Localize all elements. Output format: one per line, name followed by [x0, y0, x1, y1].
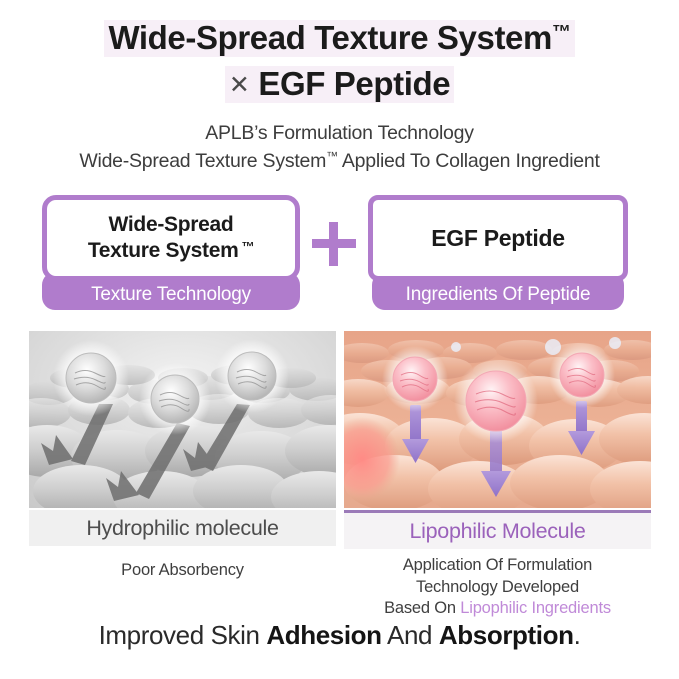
lipophilic-skin-cells-icon — [344, 331, 651, 508]
trademark-symbol-box: ™ — [241, 239, 254, 254]
header: Wide-Spread Texture System™ ✕EGF Peptide… — [0, 0, 679, 175]
lipophilic-illustration — [344, 331, 651, 508]
hydrophilic-illustration — [29, 331, 336, 508]
box-group-texture-system: Wide-Spread Texture System™ Texture Tech… — [42, 195, 300, 310]
hydrophilic-caption: Hydrophilic molecule — [29, 510, 336, 546]
lipophilic-footnote-line-3: Based On — [384, 599, 460, 617]
texture-system-box: Wide-Spread Texture System™ — [42, 195, 300, 281]
main-title-primary: Wide-Spread Texture System™ — [104, 20, 574, 57]
panel-lipophilic: Lipophilic Molecule — [344, 331, 651, 546]
subtitle-line-2-part-b: Applied To Collagen Ingredient — [338, 150, 600, 172]
closing-statement: Improved Skin Adhesion And Absorption. — [0, 620, 679, 651]
comparison-panels: Hydrophilic molecule — [0, 331, 679, 551]
texture-system-box-title: Wide-Spread Texture System™ — [88, 212, 254, 265]
trademark-symbol: ™ — [552, 22, 571, 43]
main-title-text: Wide-Spread Texture System — [108, 19, 552, 56]
lipophilic-footnote-line-2: Technology Developed — [416, 578, 579, 596]
closing-part-2: And — [382, 620, 439, 650]
lipophilic-caption: Lipophilic Molecule — [344, 510, 651, 549]
closing-part-3: . — [574, 620, 581, 650]
closing-bold-absorption: Absorption — [439, 620, 574, 650]
subtitle-block: APLB’s Formulation Technology Wide-Sprea… — [0, 120, 679, 175]
cross-icon: ✕ — [229, 73, 259, 98]
footnotes: Poor Absorbency Application Of Formulati… — [0, 551, 679, 617]
subtitle-line-2: Wide-Spread Texture System™ Applied To C… — [0, 148, 679, 176]
hydrophilic-skin-cells-icon — [29, 331, 336, 508]
title-line-2: ✕EGF Peptide — [0, 66, 679, 103]
lipophilic-footnote-line-1: Application Of Formulation — [403, 556, 592, 574]
texture-system-title-line-1: Wide-Spread — [109, 213, 234, 236]
egf-peptide-box-title: EGF Peptide — [431, 224, 564, 253]
title-line-1: Wide-Spread Texture System™ — [0, 20, 679, 57]
texture-system-title-line-2: Texture System — [88, 239, 239, 262]
subtitle-line-2-part-a: Wide-Spread Texture System — [79, 150, 326, 172]
box-group-egf-peptide: EGF Peptide Ingredients Of Peptide — [368, 195, 628, 310]
trademark-symbol-subtitle: ™ — [326, 149, 338, 163]
lipophilic-footnote: Application Of Formulation Technology De… — [344, 555, 651, 619]
main-title-text-2: EGF Peptide — [258, 65, 450, 102]
plus-icon — [312, 222, 356, 266]
panel-hydrophilic: Hydrophilic molecule — [29, 331, 336, 546]
subtitle-line-1: APLB’s Formulation Technology — [0, 120, 679, 148]
closing-part-1: Improved Skin — [99, 620, 267, 650]
hydrophilic-footnote: Poor Absorbency — [29, 561, 336, 580]
main-title-secondary: ✕EGF Peptide — [225, 66, 454, 103]
closing-bold-adhesion: Adhesion — [266, 620, 381, 650]
feature-boxes-row: Wide-Spread Texture System™ Texture Tech… — [0, 195, 679, 317]
egf-peptide-box: EGF Peptide — [368, 195, 628, 281]
lipophilic-ingredients-highlight: Lipophilic Ingredients — [460, 599, 611, 617]
